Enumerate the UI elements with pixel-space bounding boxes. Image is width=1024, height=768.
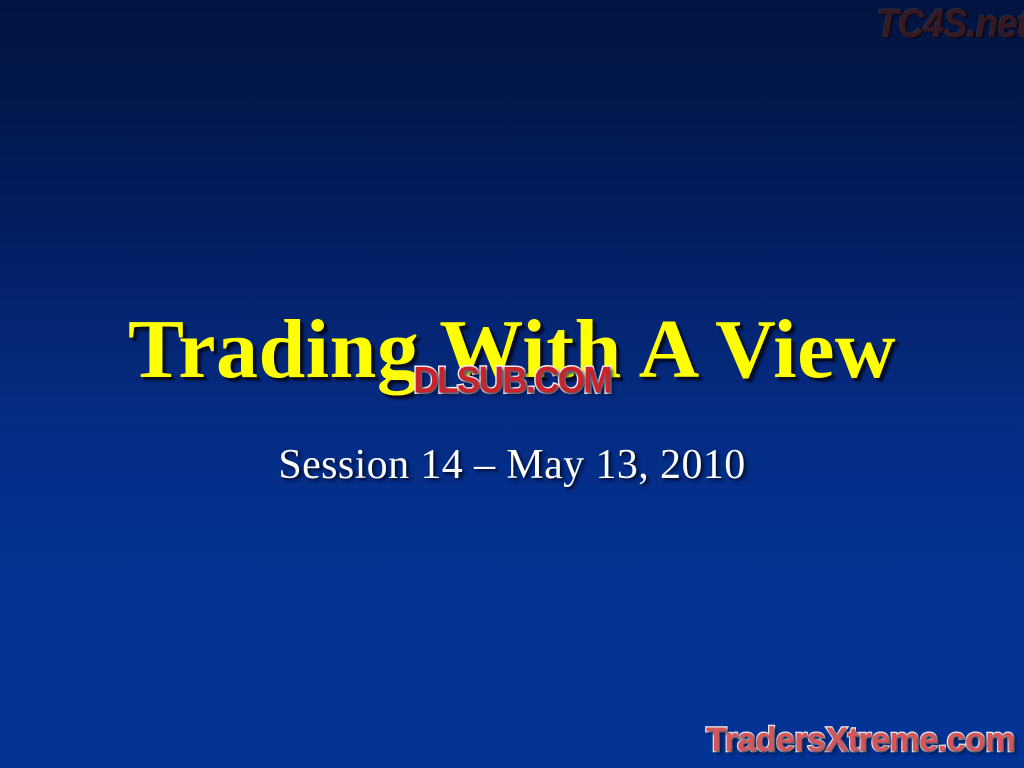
title-container: Trading With A View — [0, 252, 1024, 449]
tradersxtreme-watermark-text: TradersXtreme.com — [706, 721, 1015, 760]
tradersxtreme-watermark: TradersXtreme.com — [706, 721, 1015, 760]
slide-subtitle: Session 14 – May 13, 2010 — [278, 441, 745, 489]
presentation-slide: TC4S.net Trading With A View DLSUB.COM S… — [0, 0, 1024, 768]
subtitle-container: Session 14 – May 13, 2010 — [0, 441, 1024, 489]
dlsub-watermark-text: DLSUB.COM — [413, 359, 611, 402]
dlsub-watermark: DLSUB.COM — [0, 361, 1024, 399]
tc4s-watermark-text: TC4S.net — [876, 2, 1024, 47]
